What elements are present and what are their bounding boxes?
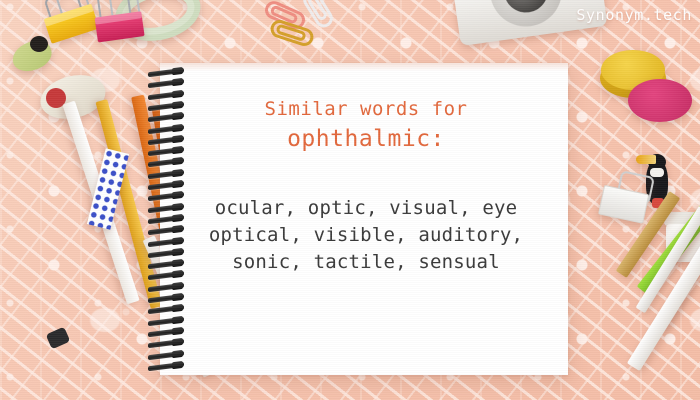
spiral-coil [148, 362, 184, 371]
spiral-coil [148, 90, 184, 99]
spiral-coil-cap [172, 338, 183, 346]
spiral-coil [148, 339, 184, 348]
spiral-coil-cap [172, 180, 183, 188]
page-top-shade [160, 63, 568, 71]
spiral-coil [148, 136, 184, 145]
synonym-list: ocular, optic, visual, eye optical, visi… [180, 195, 552, 276]
spiral-coil [148, 260, 184, 269]
spiral-coil [148, 226, 184, 235]
site-watermark: Synonym.tech [576, 6, 692, 24]
spiral-coil [148, 68, 184, 77]
spiral-coil [148, 282, 184, 291]
desk-scene: Similar words for ophthalmic: ocular, op… [0, 0, 700, 400]
spiral-coil [148, 169, 184, 178]
spiral-coil [148, 271, 184, 280]
synonym-line: ocular, optic, visual, eye [180, 195, 552, 222]
spiral-coil-cap [172, 169, 183, 177]
spiral-coil [148, 305, 184, 314]
spiral-coil-cap [172, 316, 183, 324]
spiral-coil [148, 79, 184, 88]
spiral-coil [148, 350, 184, 359]
spiral-coil-cap [172, 293, 183, 301]
spiral-coil [148, 328, 184, 337]
spiral-coil-cap [172, 361, 183, 369]
eraser-green [12, 38, 56, 72]
synonym-line: optical, visible, auditory, [180, 222, 552, 249]
spiral-coil-cap [172, 78, 183, 86]
synonym-line: sonic, tactile, sensual [180, 249, 552, 276]
spiral-coil [148, 215, 184, 224]
spiral-coil [148, 124, 184, 133]
note-term: ophthalmic: [180, 122, 552, 156]
binder-clip-pink [92, 0, 152, 51]
spiral-coil [148, 237, 184, 246]
spiral-coil [148, 203, 184, 212]
spiral-coil [148, 102, 184, 111]
spiral-coil-cap [172, 282, 183, 290]
spiral-coil [148, 113, 184, 122]
spiral-coil [148, 158, 184, 167]
spiral-coil [148, 147, 184, 156]
macaron-pink [627, 78, 695, 132]
spiral-coil [148, 249, 184, 258]
spiral-coil-cap [172, 349, 183, 357]
spiral-coil-cap [172, 304, 183, 312]
note-heading-block: Similar words for ophthalmic: [180, 96, 552, 156]
spiral-coil [148, 181, 184, 190]
spiral-coil [148, 192, 184, 201]
spiral-coil [148, 294, 184, 303]
spiral-coil-cap [172, 327, 183, 335]
note-headline: Similar words for [180, 96, 552, 122]
spiral-coil-cap [172, 157, 183, 165]
spiral-coil [148, 316, 184, 325]
spiral-coil-cap [172, 67, 183, 75]
